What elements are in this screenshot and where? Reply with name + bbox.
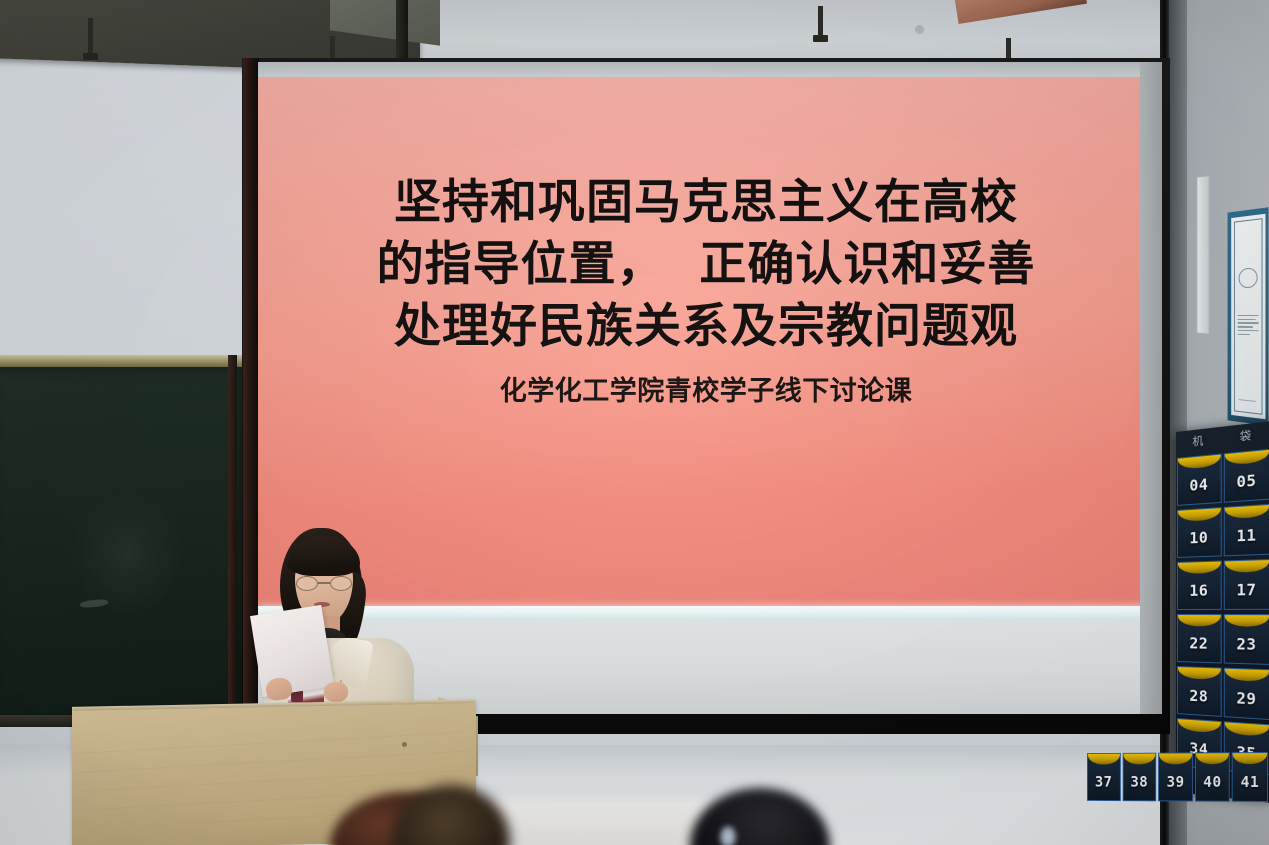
pocket-number: 38 — [1130, 773, 1148, 790]
pocket-slot[interactable]: 10 — [1177, 507, 1221, 558]
pocket-slot[interactable]: 41 — [1232, 752, 1268, 802]
pocket-slot[interactable]: 22 — [1177, 614, 1221, 663]
pocket-slot[interactable]: 05 — [1223, 449, 1269, 503]
pocket-slot[interactable]: 16 — [1177, 561, 1221, 610]
certificate-paper — [1231, 214, 1265, 420]
pocket-row: 16 17 — [1176, 559, 1269, 610]
pocket-number: 05 — [1236, 471, 1256, 491]
pocket-slot[interactable]: 04 — [1177, 454, 1221, 506]
glasses-icon — [295, 576, 353, 591]
certificate-text-lines — [1238, 312, 1259, 337]
speech-paper — [250, 605, 334, 697]
slide-title-line-3: 处理好民族关系及宗教问题观 — [394, 296, 1018, 358]
pocket-number: 41 — [1241, 773, 1260, 791]
blackboard-right-frame — [228, 355, 237, 725]
pocket-slot[interactable]: 28 — [1177, 666, 1221, 717]
ceiling-fixture-dot — [915, 25, 924, 34]
pocket-slot[interactable]: 17 — [1223, 559, 1269, 610]
wall-frame-thin — [1196, 175, 1209, 335]
pocket-number: 40 — [1203, 773, 1221, 791]
slide-text-block: 坚持和巩固马克思主义在高校 的指导位置， 正确认识和妥善 处理好民族关系及宗教问… — [258, 62, 1154, 591]
pocket-row: 22 23 — [1176, 614, 1269, 665]
pocket-number: 23 — [1236, 634, 1256, 653]
classroom-photo: 坚持和巩固马克思主义在高校 的指导位置， 正确认识和妥善 处理好民族关系及宗教问… — [0, 0, 1269, 845]
pocket-row-bottom: 37 38 39 40 41 — [1086, 752, 1269, 802]
ceiling-support-rod — [818, 6, 823, 38]
pocket-number: 22 — [1189, 634, 1208, 653]
pocket-slot[interactable]: 23 — [1223, 614, 1269, 665]
pocket-row: 10 11 — [1176, 504, 1269, 558]
phone-pocket-organizer: 机 袋 04 05 10 11 16 17 22 23 28 29 34 35 — [1176, 421, 1269, 803]
pocket-number: 11 — [1236, 525, 1256, 545]
pocket-slot[interactable]: 11 — [1223, 504, 1269, 557]
blackboard — [0, 367, 246, 722]
ceiling-beam — [396, 0, 408, 66]
pocket-number: 29 — [1236, 688, 1256, 708]
glasses-lens-right — [330, 576, 352, 591]
podium-screw — [402, 742, 407, 747]
pocket-number: 10 — [1189, 528, 1208, 547]
pocket-number: 37 — [1095, 773, 1112, 790]
pocket-number: 28 — [1189, 686, 1208, 705]
slide-title-line-1: 坚持和巩固马克思主义在高校 — [394, 172, 1018, 234]
pocket-row: 28 29 — [1176, 666, 1269, 720]
pocket-number: 17 — [1236, 580, 1256, 599]
ceiling-support-rod — [88, 18, 93, 56]
pocket-slot[interactable]: 40 — [1195, 752, 1230, 802]
pocket-slot[interactable]: 39 — [1158, 752, 1193, 801]
audience-hair-highlight — [720, 826, 736, 845]
pocket-number: 04 — [1189, 475, 1208, 495]
glasses-bridge — [318, 582, 330, 584]
presenter-hand-right — [324, 682, 348, 702]
pocket-slot[interactable]: 29 — [1223, 668, 1269, 721]
pocket-slot[interactable]: 38 — [1122, 753, 1156, 802]
pocket-slot[interactable]: 37 — [1087, 753, 1120, 801]
glasses-lens-left — [296, 576, 318, 591]
pocket-number: 16 — [1189, 581, 1208, 600]
framed-certificate — [1228, 207, 1269, 426]
pocket-number: 39 — [1167, 773, 1185, 791]
slide-subtitle: 化学化工学院青校学子线下讨论课 — [500, 374, 913, 409]
slide-title-line-2: 的指导位置， 正确认识和妥善 — [377, 234, 1036, 296]
pocket-row: 04 05 — [1176, 449, 1269, 506]
pocket-header-right: 袋 — [1240, 426, 1254, 444]
pocket-header-left: 机 — [1192, 432, 1205, 450]
audience-desk-paper — [480, 800, 710, 845]
